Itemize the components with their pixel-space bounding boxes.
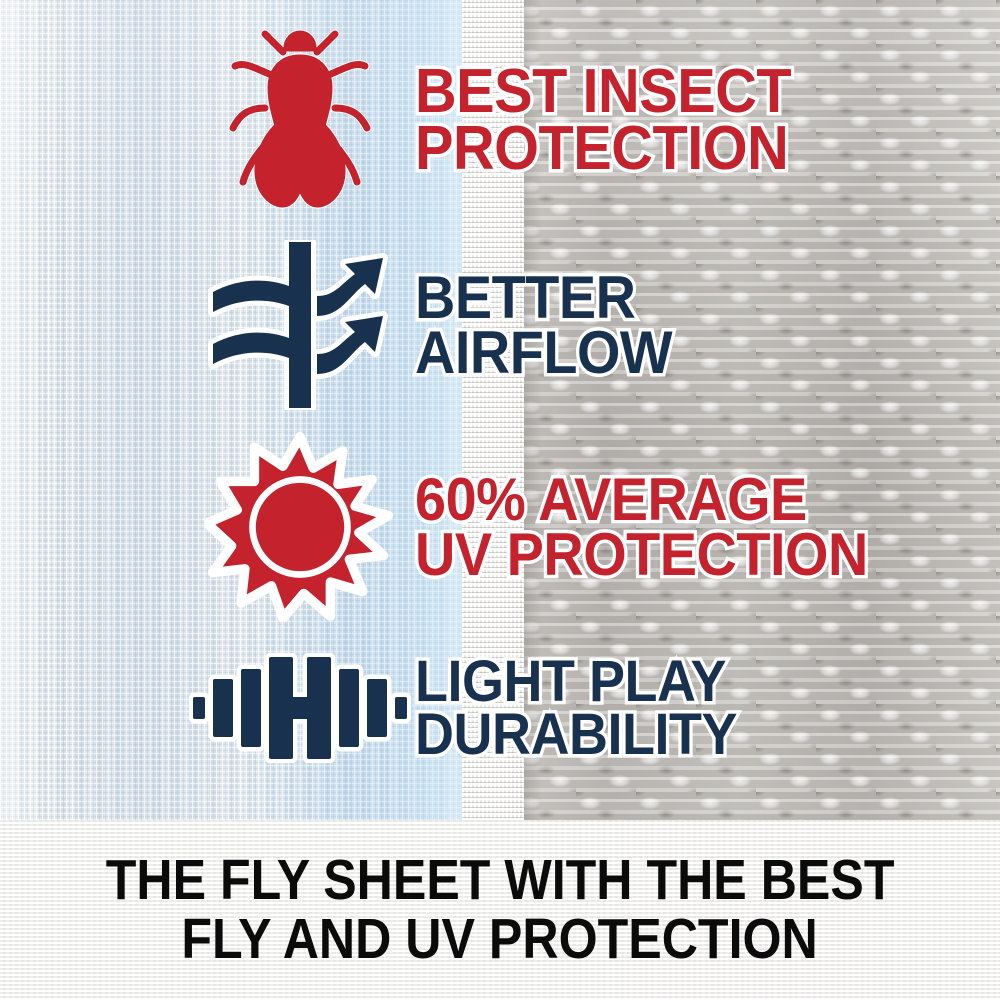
banner-line-2: FLY AND UV PROTECTION [182,910,818,969]
product-feature-poster: BEST INSECT PROTECTION [0,0,1000,1000]
feature-item-insect: BEST INSECT PROTECTION [185,22,819,218]
feature-label-durability: LIGHT PLAY DURABILITY [415,655,737,762]
feature-label-airflow: BETTER AIRFLOW [415,270,672,380]
feature-list: BEST INSECT PROTECTION [0,0,1000,820]
sun-icon [185,432,415,622]
banner-line-1: THE FLY SHEET WITH THE BEST [106,851,895,910]
fly-icon [185,22,415,218]
bottom-banner: THE FLY SHEET WITH THE BEST FLY AND UV P… [0,820,1000,1000]
airflow-icon [185,240,415,410]
feature-item-uv: 60% AVERAGE UV PROTECTION [185,432,902,622]
dumbbell-icon [185,648,415,768]
feature-label-insect: BEST INSECT PROTECTION [415,63,791,177]
feature-item-airflow: BETTER AIRFLOW [185,240,691,410]
feature-item-durability: LIGHT PLAY DURABILITY [185,648,761,768]
feature-label-uv: 60% AVERAGE UV PROTECTION [415,472,868,582]
